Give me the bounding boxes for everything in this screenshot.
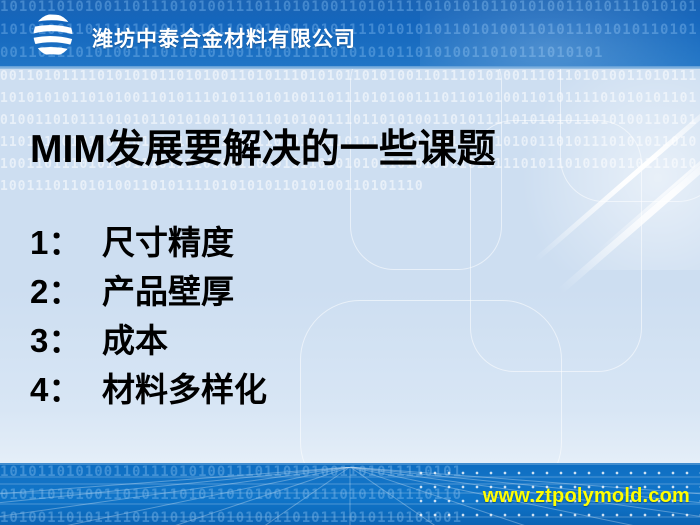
list-item-label: 材料多样化 [102,373,267,406]
list-item-number: 3： [30,324,102,357]
list-item-label: 尺寸精度 [102,226,234,259]
website-url[interactable]: www.ztpolymold.com [483,485,690,508]
list-item-number: 4： [30,373,102,406]
bullet-list: 1： 尺寸精度 2： 产品壁厚 3： 成本 4： 材料多样化 [30,226,670,422]
list-item: 4： 材料多样化 [30,373,670,422]
company-name: 潍坊中泰合金材料有限公司 [92,23,356,53]
list-item: 2： 产品壁厚 [30,275,670,324]
slide-header: 1010110101001101110101001110110101001101… [0,0,700,66]
globe-logo-icon [29,12,77,58]
list-item: 3： 成本 [30,324,670,373]
list-item-label: 产品壁厚 [102,275,234,308]
header-sheen [420,0,700,66]
list-item-number: 1： [30,226,102,259]
presentation-slide: 1010110101001101110101001110110101001101… [0,0,700,525]
footer-top-highlight [0,463,700,465]
slide-content: MIM发展要解决的一些课题 1： 尺寸精度 2： 产品壁厚 3： 成本 4： 材… [0,69,700,463]
list-item: 1： 尺寸精度 [30,226,670,275]
list-item-label: 成本 [102,324,168,357]
footer-binary-texture: 1010110101001101110101001110110101001101… [0,463,470,525]
slide-footer: 1010110101001101110101001110110101001101… [0,463,700,525]
page-title: MIM发展要解决的一些课题 [30,130,496,169]
list-item-number: 2： [30,275,102,308]
